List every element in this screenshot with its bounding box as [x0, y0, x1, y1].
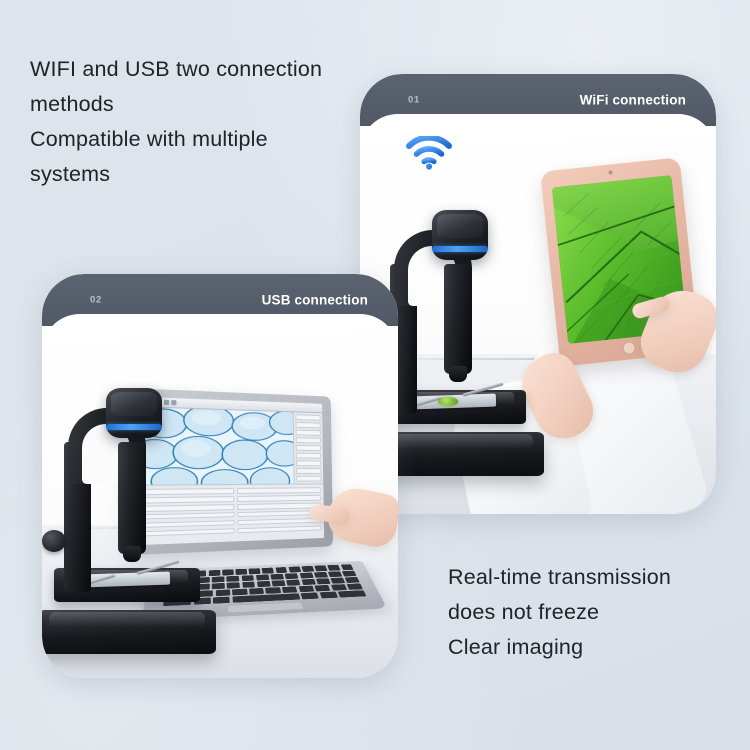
app-control-panel	[138, 484, 324, 545]
key	[272, 580, 286, 586]
camera-blue-accent-ring-usb	[106, 424, 162, 431]
control-field[interactable]	[141, 488, 233, 495]
microscope-lens-usb	[123, 546, 141, 562]
toolbar-item[interactable]	[295, 414, 320, 420]
microscopy-software-window	[138, 397, 324, 545]
key	[249, 588, 264, 595]
control-field[interactable]	[141, 520, 234, 528]
panel-usb-body	[42, 314, 398, 678]
control-field[interactable]	[237, 503, 321, 510]
headline-top-line-3: Compatible with multiple	[30, 122, 322, 157]
control-field[interactable]	[141, 528, 234, 537]
key	[286, 579, 300, 585]
headline-bottom-line-2: does not freeze	[448, 595, 671, 630]
key	[213, 596, 230, 603]
headline-top: WIFI and USB two connection methods Comp…	[30, 52, 322, 192]
key	[275, 567, 287, 573]
key	[209, 570, 220, 576]
headline-top-line-4: systems	[30, 157, 322, 192]
key	[222, 570, 234, 576]
laptop-display[interactable]	[138, 397, 324, 545]
key	[227, 582, 240, 588]
panel-usb-title: USB connection	[262, 293, 368, 308]
control-field[interactable]	[237, 510, 321, 517]
control-field[interactable]	[141, 496, 234, 503]
tablet-home-button-icon[interactable]	[622, 341, 636, 355]
app-main-area	[138, 407, 323, 485]
key	[285, 573, 299, 579]
panel-wifi-title: WiFi connection	[580, 93, 686, 108]
key	[270, 574, 284, 580]
panel-usb-connection: 02 USB connection	[42, 274, 398, 678]
headline-top-line-2: methods	[30, 87, 322, 122]
key	[316, 578, 330, 584]
key	[301, 592, 319, 599]
panel-wifi-connection: 01 WiFi connection	[360, 74, 716, 514]
toolbar-item[interactable]	[296, 437, 321, 443]
key	[227, 576, 240, 582]
key	[212, 576, 225, 582]
key	[256, 574, 269, 580]
toolbar-item[interactable]	[296, 452, 321, 458]
key	[282, 586, 298, 593]
key	[301, 566, 314, 572]
key	[347, 583, 364, 589]
toolbar-item[interactable]	[296, 429, 321, 435]
camera-head-top-face-usb	[111, 392, 157, 416]
key	[328, 565, 341, 571]
toolbar-item[interactable]	[296, 476, 321, 482]
key	[235, 569, 247, 575]
microscope-base-usb	[42, 610, 216, 654]
key	[345, 577, 360, 583]
key	[232, 589, 247, 596]
tablet-front-camera-icon	[608, 171, 612, 175]
key	[314, 572, 328, 578]
key	[242, 581, 255, 587]
control-field[interactable]	[237, 525, 321, 533]
panel-usb-badge: 02	[90, 295, 102, 306]
key	[342, 570, 357, 576]
key	[319, 591, 338, 598]
app-toolbar-right[interactable]	[293, 412, 323, 484]
key	[301, 579, 315, 585]
toolbar-item[interactable]	[296, 445, 321, 451]
control-column-right	[237, 487, 321, 537]
focus-knob-usb[interactable]	[42, 530, 66, 552]
key	[262, 568, 274, 574]
camera-head-usb	[106, 388, 162, 438]
key	[216, 589, 231, 596]
key	[331, 584, 347, 590]
headline-bottom-line-3: Clear imaging	[448, 630, 671, 665]
app-menu-icon-4[interactable]	[163, 400, 168, 405]
camera-head-wifi	[432, 210, 488, 260]
wifi-signal-icon	[406, 136, 452, 170]
key	[330, 577, 345, 583]
key	[212, 583, 225, 589]
key	[249, 568, 261, 574]
headline-bottom: Real-time transmission does not freeze C…	[448, 560, 671, 665]
control-field[interactable]	[237, 495, 321, 502]
headline-top-line-1: WIFI and USB two connection	[30, 52, 322, 87]
control-field[interactable]	[237, 487, 321, 493]
key	[288, 567, 300, 573]
toolbar-item[interactable]	[295, 422, 320, 428]
usb-scene	[42, 314, 398, 678]
key	[241, 575, 254, 581]
key	[338, 590, 367, 597]
key	[340, 564, 353, 570]
key	[314, 585, 330, 592]
page-background: WIFI and USB two connection methods Comp…	[0, 0, 750, 750]
camera-head-top-face	[437, 214, 483, 238]
app-menu-icon-5[interactable]	[171, 400, 176, 405]
key	[315, 566, 328, 572]
key	[257, 581, 271, 587]
key	[298, 586, 314, 593]
microscope-lens-wifi	[449, 366, 467, 382]
control-field[interactable]	[141, 512, 234, 520]
panel-wifi-badge: 01	[408, 95, 420, 106]
microscope-objective-tube-wifi	[444, 264, 472, 374]
headline-bottom-line-1: Real-time transmission	[448, 560, 671, 595]
key	[328, 571, 342, 577]
key	[265, 587, 280, 594]
control-field[interactable]	[237, 518, 321, 526]
toolbar-item[interactable]	[296, 460, 321, 466]
camera-blue-accent-ring	[432, 246, 488, 253]
control-column-left	[141, 488, 234, 541]
control-field[interactable]	[141, 504, 234, 512]
key	[199, 590, 214, 597]
microscope-objective-tube-usb	[118, 442, 146, 554]
wifi-scene	[360, 114, 716, 514]
key	[299, 572, 313, 578]
laptop-trackpad[interactable]	[226, 601, 304, 613]
toolbar-item[interactable]	[296, 468, 321, 474]
panel-wifi-body	[360, 114, 716, 514]
